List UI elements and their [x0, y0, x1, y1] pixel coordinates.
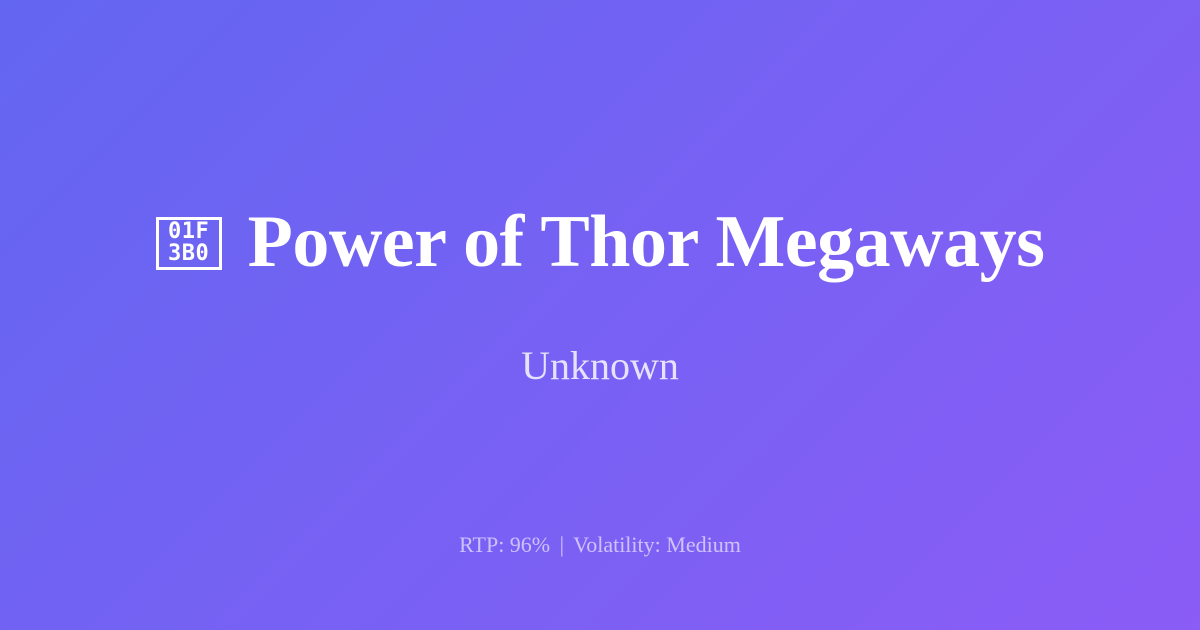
meta-separator: |	[556, 532, 568, 557]
volatility-value: Volatility: Medium	[573, 532, 741, 557]
page-title: Power of Thor Megaways	[248, 204, 1045, 282]
game-meta-line: RTP: 96% | Volatility: Medium	[0, 532, 1200, 558]
game-og-card: 01F 3B0 Power of Thor Megaways Unknown R…	[0, 0, 1200, 630]
slot-machine-icon-codepoint-low: 3B0	[168, 243, 209, 265]
provider-name: Unknown	[521, 344, 679, 388]
title-row: 01F 3B0 Power of Thor Megaways	[48, 204, 1152, 282]
slot-machine-icon-codepoint-high: 01F	[168, 221, 209, 243]
rtp-value: RTP: 96%	[459, 532, 550, 557]
slot-machine-icon: 01F 3B0	[156, 217, 222, 270]
